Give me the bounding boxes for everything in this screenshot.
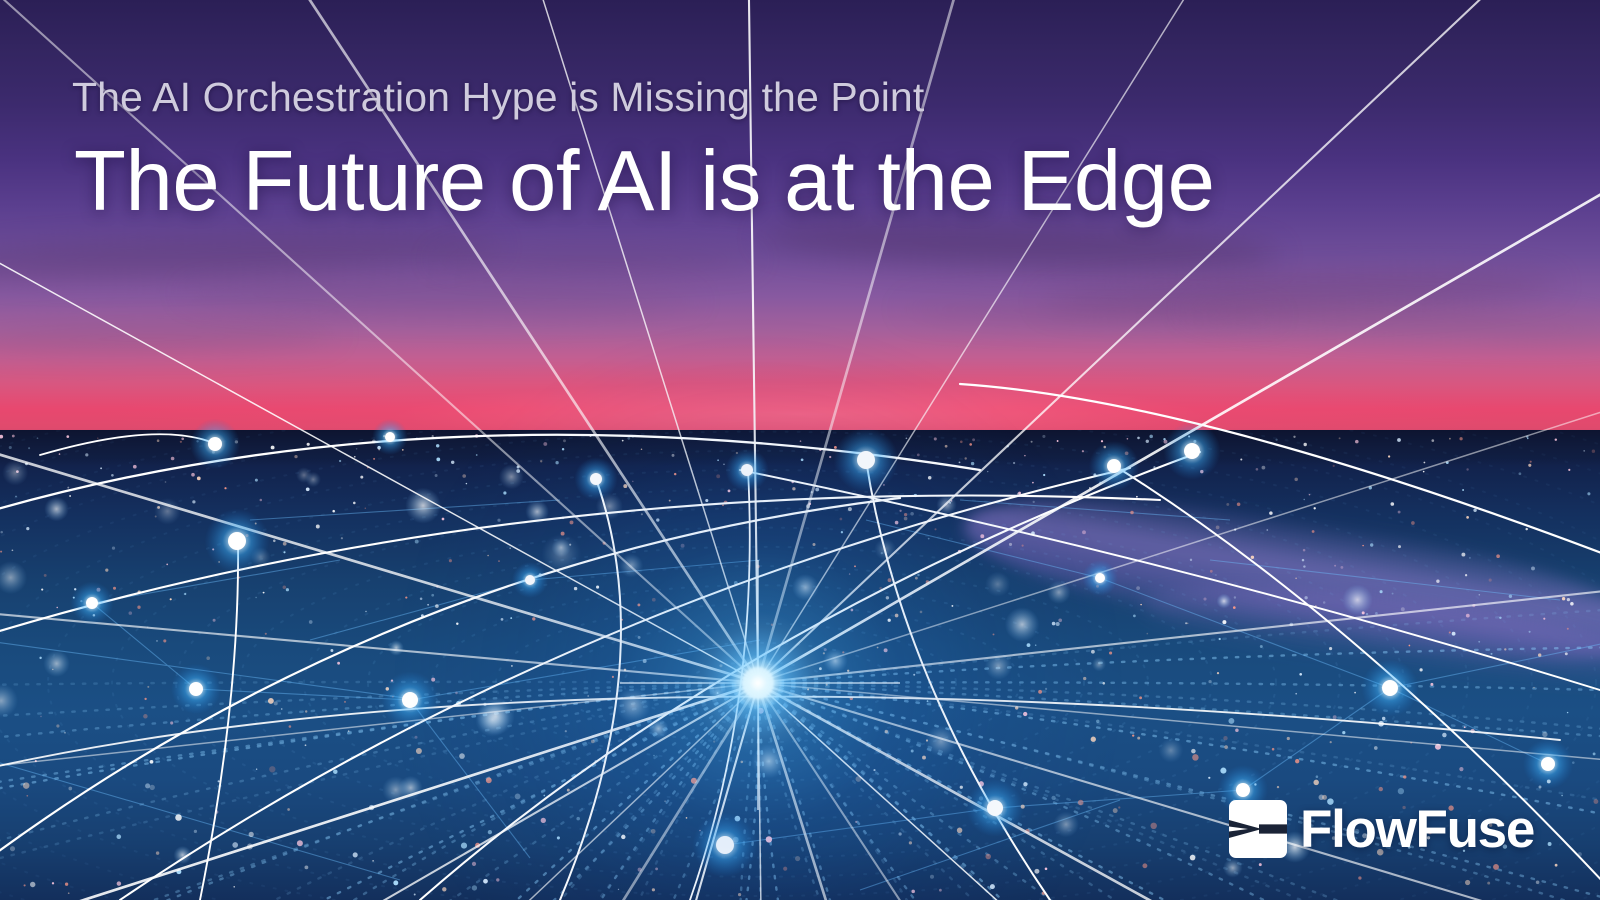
flowfuse-wordmark: FlowFuse — [1300, 803, 1534, 856]
banner-headline: The Future of AI is at the Edge — [74, 136, 1215, 228]
flowfuse-converging-arrows-icon — [1229, 800, 1287, 858]
banner-image: The AI Orchestration Hype is Missing the… — [0, 0, 1600, 900]
hub-core — [702, 627, 814, 739]
banner-kicker: The AI Orchestration Hype is Missing the… — [72, 74, 924, 121]
flowfuse-logo[interactable]: FlowFuse — [1229, 800, 1534, 858]
